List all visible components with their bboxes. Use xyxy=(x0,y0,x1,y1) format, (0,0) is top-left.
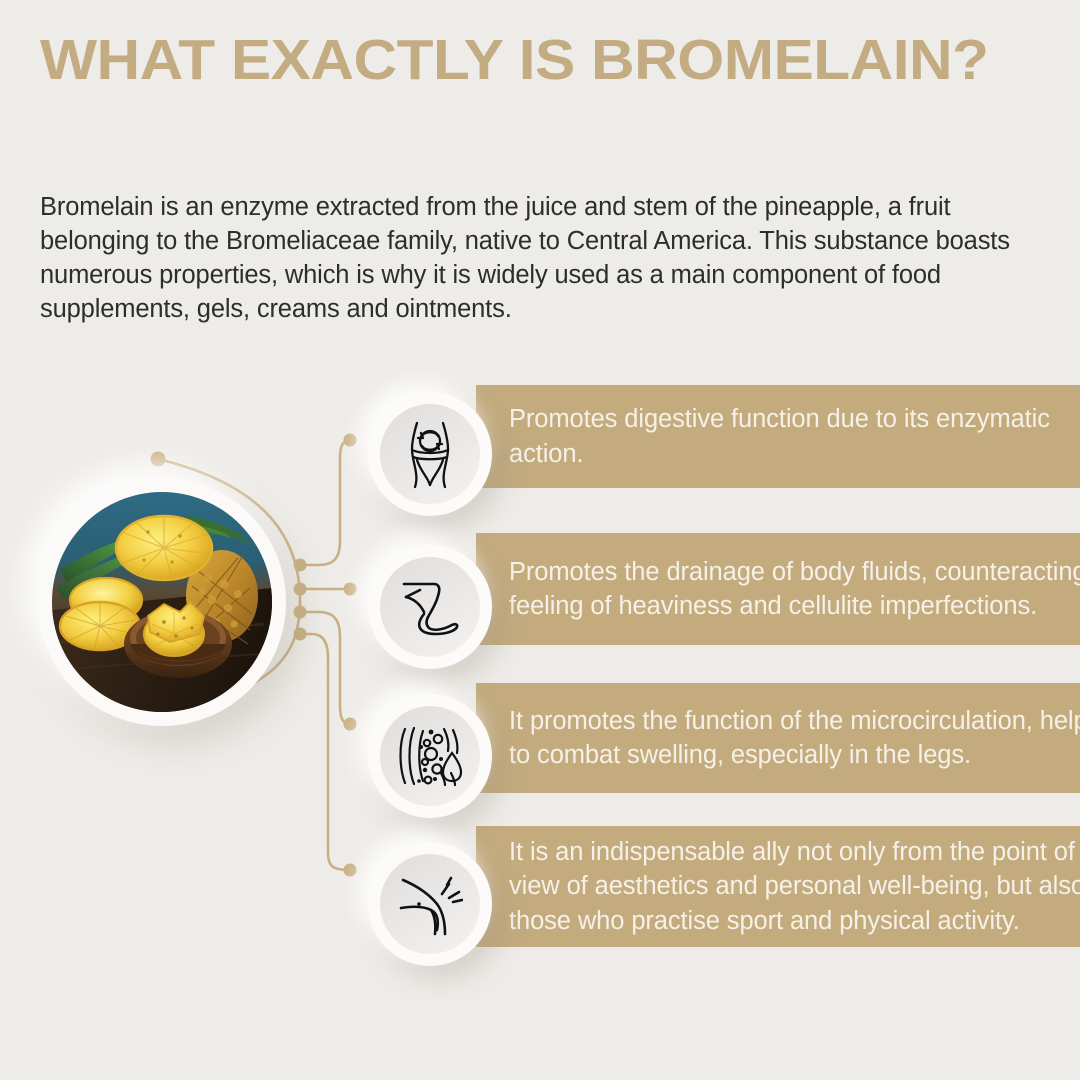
leg-drainage-glyph xyxy=(398,576,462,638)
benefit-bar: Promotes the drainage of body fluids, co… xyxy=(476,533,1080,645)
microcirculation-glyph xyxy=(397,723,463,789)
benefit-text: Promotes digestive function due to its e… xyxy=(476,402,1080,471)
benefit-icon-badge[interactable] xyxy=(368,694,492,818)
page-title: WHAT EXACTLY IS BROMELAIN? xyxy=(40,26,1080,94)
end-dot-2 xyxy=(344,583,357,596)
leg-drainage-icon xyxy=(380,557,480,657)
end-dot-3 xyxy=(344,718,357,731)
benefit-icon-badge[interactable] xyxy=(368,842,492,966)
waist-digestion-glyph xyxy=(399,419,461,489)
benefit-text: It is an indispensable ally not only fro… xyxy=(476,835,1080,939)
connector-line-1 xyxy=(300,440,350,565)
knee-joint-glyph xyxy=(397,872,463,936)
waist-digestion-icon xyxy=(380,404,480,504)
hub-dot-1 xyxy=(294,559,307,572)
benefit-icon-badge[interactable] xyxy=(368,545,492,669)
benefit-bar: It is an indispensable ally not only fro… xyxy=(476,826,1080,947)
benefit-text: It promotes the function of the microcir… xyxy=(476,704,1080,773)
arc-dot-top xyxy=(151,452,166,467)
pineapple-illustration xyxy=(52,492,272,712)
infographic-page: WHAT EXACTLY IS BROMELAIN? Bromelain is … xyxy=(0,0,1080,1080)
end-dot-4 xyxy=(344,864,357,877)
photo-disc xyxy=(52,492,272,712)
intro-paragraph: Bromelain is an enzyme extracted from th… xyxy=(40,190,1025,326)
benefit-bar: Promotes digestive function due to its e… xyxy=(476,385,1080,488)
hub-dot-2 xyxy=(294,583,307,596)
knee-joint-icon xyxy=(380,854,480,954)
pineapple-photo xyxy=(38,478,286,726)
benefit-text: Promotes the drainage of body fluids, co… xyxy=(476,555,1080,624)
benefit-icon-badge[interactable] xyxy=(368,392,492,516)
connector-line-4 xyxy=(300,634,350,870)
microcirculation-icon xyxy=(380,706,480,806)
end-dot-1 xyxy=(344,434,357,447)
benefit-bar: It promotes the function of the microcir… xyxy=(476,683,1080,793)
hub-dot-4 xyxy=(294,628,307,641)
connector-line-3 xyxy=(300,612,350,724)
hub-dot-3 xyxy=(294,606,307,619)
